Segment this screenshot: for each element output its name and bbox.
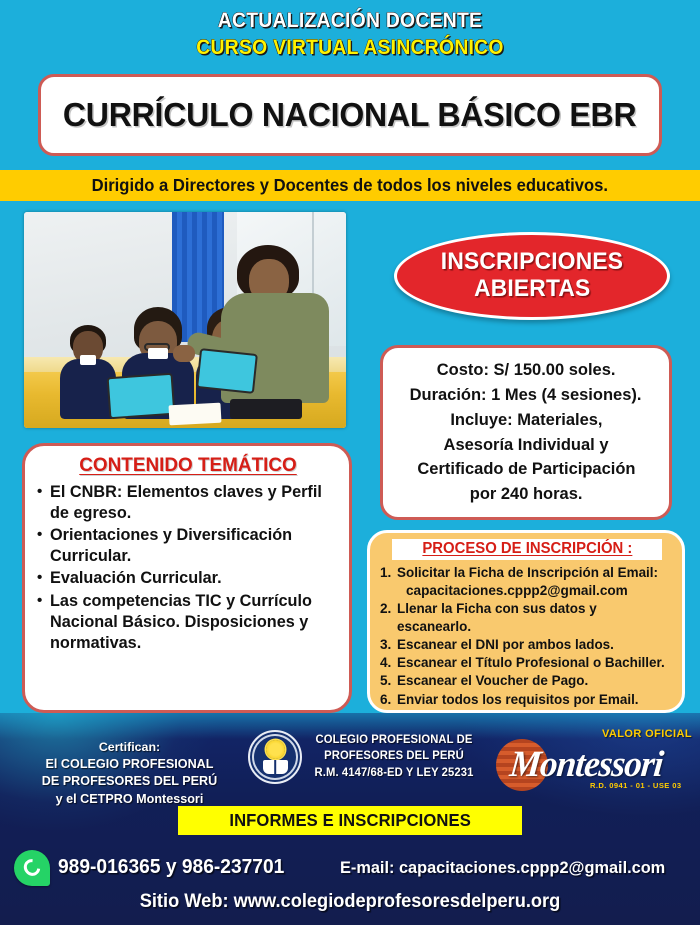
step-email: capacitaciones.cppp2@gmail.com bbox=[380, 582, 674, 600]
list-item-label: Orientaciones y Diversificación Curricul… bbox=[50, 525, 335, 567]
informes-label: INFORMES E INSCRIPCIONES bbox=[229, 810, 471, 831]
thematic-content-box: CONTENIDO TEMÁTICO • El CNBR: Elementos … bbox=[22, 443, 352, 713]
badge-line-1: INSCRIPCIONES bbox=[441, 249, 623, 276]
student-collar bbox=[148, 348, 168, 359]
bullet-icon: • bbox=[37, 568, 50, 588]
badge-line-2: ABIERTAS bbox=[474, 276, 590, 303]
certifican-line-3: DE PROFESORES DEL PERÚ bbox=[22, 773, 237, 790]
step-label: Llenar la Ficha con sus datos y escanear… bbox=[397, 600, 671, 636]
inscriptions-open-badge: INSCRIPCIONES ABIERTAS bbox=[394, 232, 670, 320]
registration-process-box: PROCESO DE INSCRIPCIÓN : 1. Solicitar la… bbox=[367, 530, 685, 713]
header-line-2: CURSO VIRTUAL ASINCRÓNICO bbox=[28, 37, 672, 59]
website-url[interactable]: Sitio Web: www.colegiodeprofesoresdelper… bbox=[14, 891, 686, 913]
course-title-box: CURRÍCULO NACIONAL BÁSICO EBR bbox=[38, 74, 662, 156]
certifican-line-2: El COLEGIO PROFESIONAL bbox=[22, 756, 237, 773]
process-heading: PROCESO DE INSCRIPCIÓN : bbox=[422, 540, 632, 558]
cppp-line-2: PROFESORES DEL PERÚ bbox=[309, 748, 480, 764]
step-label: Escanear el Voucher de Pago. bbox=[397, 672, 671, 690]
process-step: 1. Solicitar la Ficha de Inscripción al … bbox=[380, 564, 674, 582]
step-label: Escanear el Título Profesional o Bachill… bbox=[397, 654, 671, 672]
sun-icon bbox=[266, 740, 285, 759]
montessori-wordmark: Montessori bbox=[508, 743, 665, 786]
step-number: 3. bbox=[380, 636, 397, 654]
certifican-label: Certifican: bbox=[22, 739, 237, 756]
step-label: Enviar todos los requisitos por Email. bbox=[397, 691, 671, 709]
classroom-photo bbox=[24, 212, 346, 428]
cppp-seal-icon bbox=[248, 730, 302, 784]
student-collar bbox=[80, 355, 96, 365]
step-number: 5. bbox=[380, 672, 397, 690]
tablet-device bbox=[106, 373, 175, 420]
step-label: Escanear el DNI por ambos lados. bbox=[397, 636, 671, 654]
list-item-label: Evaluación Curricular. bbox=[50, 568, 335, 589]
tablet-device bbox=[196, 348, 258, 394]
cost-line: Certificado de Participación bbox=[417, 457, 635, 482]
list-item: • Las competencias TIC y Currículo Nacio… bbox=[37, 591, 339, 654]
bullet-icon: • bbox=[37, 525, 50, 545]
bullet-icon: • bbox=[37, 482, 50, 502]
process-step: 3. Escanear el DNI por ambos lados. bbox=[380, 636, 674, 654]
list-item: • Evaluación Curricular. bbox=[37, 568, 339, 589]
cost-line: Incluye: Materiales, bbox=[450, 408, 602, 433]
bullet-icon: • bbox=[37, 591, 50, 611]
montessori-rd-code: R.D. 0941 - 01 - USE 03 bbox=[590, 781, 682, 790]
contact-email[interactable]: E-mail: capacitaciones.cppp2@gmail.com bbox=[340, 858, 665, 878]
keyboard bbox=[230, 399, 302, 419]
whatsapp-icon[interactable] bbox=[14, 850, 50, 886]
process-step: 5. Escanear el Voucher de Pago. bbox=[380, 672, 674, 690]
flyer-poster: ACTUALIZACIÓN DOCENTE CURSO VIRTUAL ASIN… bbox=[0, 0, 700, 925]
cost-line: Costo: S/ 150.00 soles. bbox=[437, 358, 616, 383]
cppp-institution-text: COLEGIO PROFESIONAL DE PROFESORES DEL PE… bbox=[309, 732, 480, 781]
montessori-logo: VALOR OFICIAL Montessori R.D. 0941 - 01 … bbox=[492, 727, 692, 793]
list-item-label: Las competencias TIC y Currículo Naciona… bbox=[50, 591, 335, 654]
cppp-line-1: COLEGIO PROFESIONAL DE bbox=[309, 732, 480, 748]
header-line-1: ACTUALIZACIÓN DOCENTE bbox=[28, 10, 672, 32]
cost-details-box: Costo: S/ 150.00 soles. Duración: 1 Mes … bbox=[380, 345, 672, 520]
audience-band: Dirigido a Directores y Docentes de todo… bbox=[0, 170, 700, 201]
step-number: 6. bbox=[380, 691, 397, 709]
process-step: 4. Escanear el Título Profesional o Bach… bbox=[380, 654, 674, 672]
certifying-institutions: Certifican: El COLEGIO PROFESIONAL DE PR… bbox=[22, 739, 237, 808]
cppp-line-3: R.M. 4147/68-ED Y LEY 25231 bbox=[309, 765, 480, 781]
process-step: 6. Enviar todos los requisitos por Email… bbox=[380, 691, 674, 709]
step-number: 1. bbox=[380, 564, 397, 582]
step-number: 4. bbox=[380, 654, 397, 672]
notebook-paper bbox=[168, 402, 221, 425]
valor-oficial-label: VALOR OFICIAL bbox=[602, 728, 692, 740]
cost-line: Asesoría Individual y bbox=[444, 433, 609, 458]
phone-numbers[interactable]: 989-016365 y 986-237701 bbox=[58, 856, 284, 879]
teacher-hand bbox=[173, 345, 195, 362]
audience-text: Dirigido a Directores y Docentes de todo… bbox=[92, 175, 608, 196]
process-step: 2. Llenar la Ficha con sus datos y escan… bbox=[380, 600, 674, 636]
page-title: CURRÍCULO NACIONAL BÁSICO EBR bbox=[63, 96, 637, 134]
content-heading: CONTENIDO TEMÁTICO bbox=[42, 454, 335, 477]
list-item: • Orientaciones y Diversificación Curric… bbox=[37, 525, 339, 567]
list-item-label: El CNBR: Elementos claves y Perfil de eg… bbox=[50, 482, 335, 524]
step-label: Solicitar la Ficha de Inscripción al Ema… bbox=[397, 564, 671, 582]
cost-line: por 240 horas. bbox=[470, 482, 583, 507]
list-item: • El CNBR: Elementos claves y Perfil de … bbox=[37, 482, 339, 524]
open-book-icon bbox=[263, 760, 288, 774]
footer-panel: Certifican: El COLEGIO PROFESIONAL DE PR… bbox=[0, 713, 700, 925]
informes-bar: INFORMES E INSCRIPCIONES bbox=[178, 806, 522, 835]
cost-line: Duración: 1 Mes (4 sesiones). bbox=[410, 383, 642, 408]
step-number: 2. bbox=[380, 600, 397, 618]
process-heading-wrap: PROCESO DE INSCRIPCIÓN : bbox=[392, 539, 662, 560]
